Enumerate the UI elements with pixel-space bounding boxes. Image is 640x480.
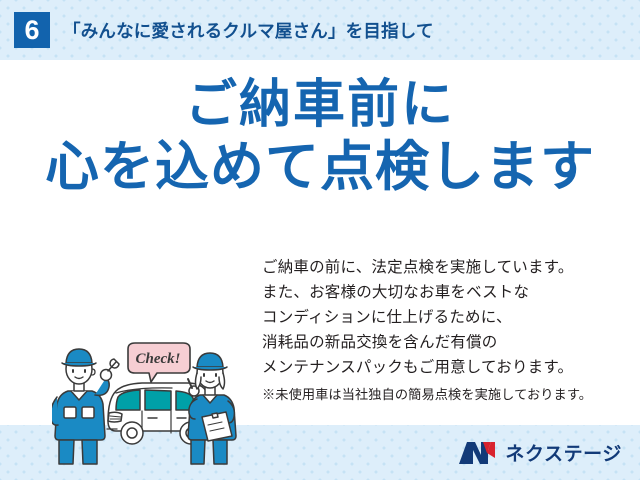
headline-line-1: ご納車前に bbox=[0, 78, 640, 133]
body-line: ご納車の前に、法定点検を実施しています。 bbox=[262, 255, 630, 280]
brand-name: ネクステージ bbox=[505, 439, 622, 466]
body-line: メンテナンスパックもご用意しております。 bbox=[262, 355, 630, 380]
body-line: また、お客様の大切なお車をベストな bbox=[262, 280, 630, 305]
speech-bubble-label: Check! bbox=[136, 351, 181, 367]
body-line: コンディションに仕上げるために、 bbox=[262, 305, 630, 330]
headline: ご納車前に 心を込めて点検します bbox=[0, 78, 640, 196]
body-footnote: ※未使用車は当社独自の簡易点検を実施しております。 bbox=[262, 385, 630, 405]
headline-line-2: 心を込めて点検します bbox=[0, 139, 640, 196]
step-number-badge: 6 bbox=[14, 12, 50, 48]
brand-logo: ネクステージ bbox=[457, 439, 622, 466]
body-line: 消耗品の新品交換を含んだ有償の bbox=[262, 330, 630, 355]
mechanics-illustration: Check! bbox=[52, 325, 262, 465]
header-band: 6 「みんなに愛されるクルマ屋さん」を目指して bbox=[0, 0, 640, 60]
body-copy: ご納車の前に、法定点検を実施しています。 また、お客様の大切なお車をベストな コ… bbox=[262, 255, 630, 404]
content-panel: ご納車前に 心を込めて点検します ご納車の前に、法定点検を実施しています。 また… bbox=[0, 60, 640, 425]
nextage-n-mark-icon bbox=[457, 440, 497, 466]
right-mechanic-figure bbox=[188, 353, 236, 464]
header-title: 「みんなに愛されるクルマ屋さん」を目指して bbox=[63, 18, 434, 43]
advertisement-page: 6 「みんなに愛されるクルマ屋さん」を目指して ご納車前に 心を込めて点検します… bbox=[0, 0, 640, 480]
